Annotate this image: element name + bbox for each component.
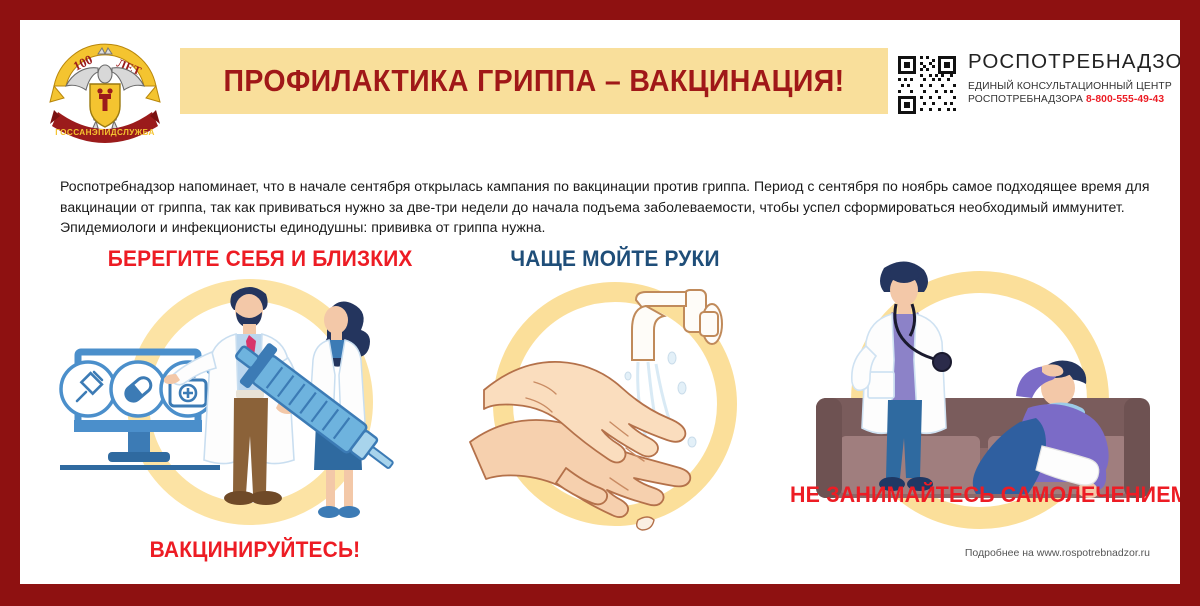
qr-code-icon bbox=[896, 54, 958, 116]
panel-vaccination: БЕРЕГИТЕ СЕБЯ И БЛИЗКИХ bbox=[50, 232, 450, 562]
panel-handwashing: ЧАЩЕ МОЙТЕ РУКИ bbox=[460, 232, 770, 562]
footer-note: Подробнее на www.rospotrebnadzor.ru bbox=[20, 547, 1150, 559]
page-title: ПРОФИЛАКТИКА ГРИППА – ВАКЦИНАЦИЯ! bbox=[208, 48, 859, 114]
hotline-phone[interactable]: 8-800-555-49-43 bbox=[1086, 94, 1164, 105]
panel-self-medication: НЕ ЗАНИМАЙТЕСЬ САМОЛЕЧЕНИЕМ! bbox=[780, 210, 1180, 540]
poster: 100 ЛЕТ bbox=[20, 20, 1180, 584]
consult-center-line2: РОСПОТРЕБНАДЗОРА bbox=[968, 94, 1083, 105]
title-banner: ПРОФИЛАКТИКА ГРИППА – ВАКЦИНАЦИЯ! bbox=[180, 48, 888, 114]
illustration-hands-washing-faucet bbox=[460, 272, 770, 542]
consult-center-line1: ЕДИНЫЙ КОНСУЛЬТАЦИОННЫЙ ЦЕНТР bbox=[968, 81, 1172, 92]
panel-vaccination-title: БЕРЕГИТЕ СЕБЯ И БЛИЗКИХ bbox=[108, 246, 403, 272]
illustration-doctor-examining-patient bbox=[780, 250, 1180, 520]
organization-name: РОСПОТРЕБНАДЗОР bbox=[968, 50, 1180, 74]
header: 100 ЛЕТ bbox=[20, 20, 1180, 135]
organization-block: РОСПОТРЕБНАДЗОР ЕДИНЫЙ КОНСУЛЬТАЦИОННЫЙ … bbox=[896, 52, 1166, 118]
panel-handwashing-title: ЧАЩЕ МОЙТЕ РУКИ bbox=[468, 246, 763, 272]
svg-text:ГОССАНЭПИДСЛУЖБА: ГОССАНЭПИДСЛУЖБА bbox=[55, 128, 155, 137]
panel-self-medication-title: НЕ ЗАНИМАЙТЕСЬ САМОЛЕЧЕНИЕМ! bbox=[790, 482, 1170, 508]
organization-subtitle: ЕДИНЫЙ КОНСУЛЬТАЦИОННЫЙ ЦЕНТР РОСПОТРЕБН… bbox=[968, 80, 1172, 106]
illustration-doctor-monitor-syringe bbox=[50, 272, 450, 542]
rospotrebnadzor-emblem: 100 ЛЕТ bbox=[40, 28, 170, 148]
